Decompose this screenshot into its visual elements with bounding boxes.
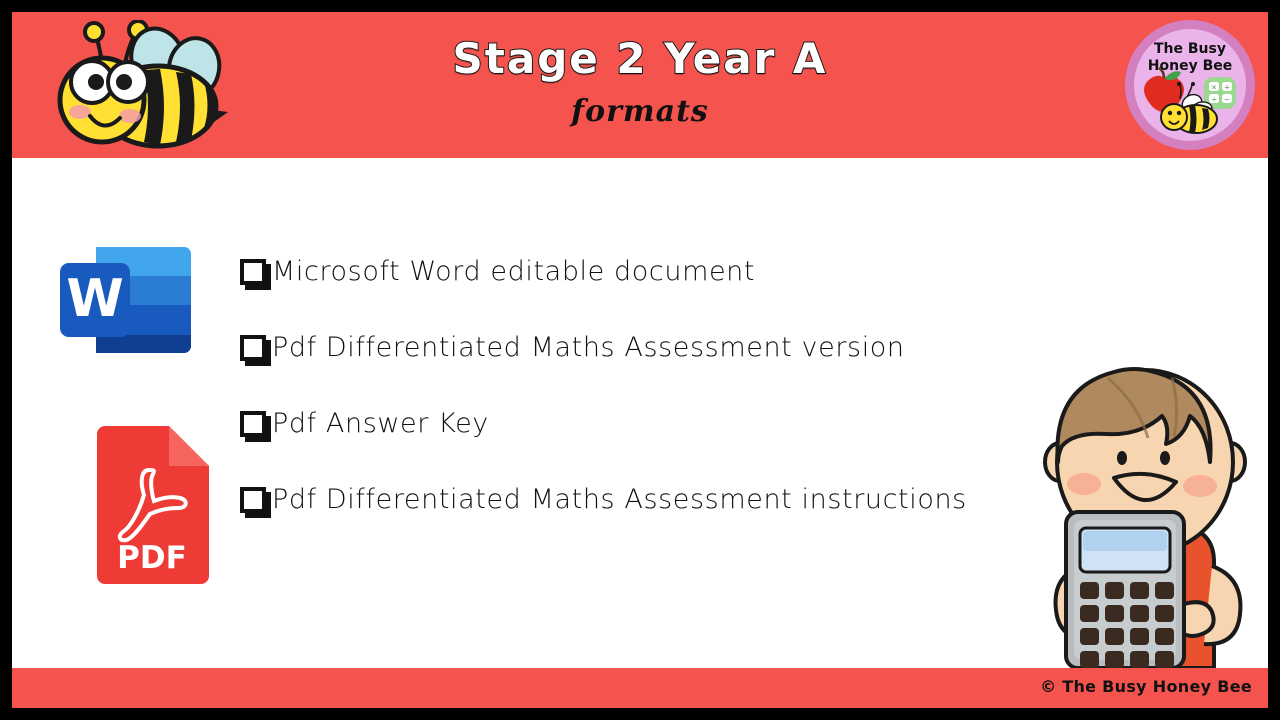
list-item-label: Microsoft Word editable document xyxy=(272,253,755,291)
footer-bar: © The Busy Honey Bee xyxy=(12,668,1268,708)
brand-logo-inner: The Busy Honey Bee xyxy=(1134,29,1246,141)
slide-page: Stage 2 Year A formats The Busy Honey Be… xyxy=(12,12,1268,708)
copyright-text: © The Busy Honey Bee xyxy=(1040,677,1252,696)
list-item-label: Pdf Differentiated Maths Assessment inst… xyxy=(272,481,967,519)
svg-text:−: − xyxy=(1224,96,1230,104)
svg-text:×: × xyxy=(1211,84,1217,92)
brand-logo-art: × + ÷ − xyxy=(1134,29,1246,141)
list-item[interactable]: Pdf Answer Key xyxy=(240,405,1060,481)
header-bar: Stage 2 Year A formats The Busy Honey Be… xyxy=(12,12,1268,158)
page-title: Stage 2 Year A xyxy=(12,34,1268,83)
checkbox-icon[interactable] xyxy=(240,335,266,361)
page-subtitle: formats xyxy=(12,94,1268,129)
word-letter: W xyxy=(66,269,123,329)
pdf-file-icon: PDF xyxy=(87,426,217,584)
list-item-label: Pdf Differentiated Maths Assessment vers… xyxy=(272,329,905,367)
checkbox-icon[interactable] xyxy=(240,259,266,285)
formats-checklist: Microsoft Word editable document Pdf Dif… xyxy=(240,253,1060,557)
list-item[interactable]: Microsoft Word editable document xyxy=(240,253,1060,329)
boy-with-calculator-illustration xyxy=(1022,366,1268,668)
content-area: W PDF Microsoft Word editable document P… xyxy=(12,158,1268,668)
checkbox-icon[interactable] xyxy=(240,411,266,437)
list-item[interactable]: Pdf Differentiated Maths Assessment vers… xyxy=(240,329,1060,405)
brand-logo[interactable]: The Busy Honey Bee xyxy=(1125,20,1255,150)
microsoft-word-icon: W xyxy=(58,241,193,359)
list-item[interactable]: Pdf Differentiated Maths Assessment inst… xyxy=(240,481,1060,557)
slide-root: Stage 2 Year A formats The Busy Honey Be… xyxy=(0,0,1280,720)
checkbox-icon[interactable] xyxy=(240,487,266,513)
svg-text:÷: ÷ xyxy=(1211,96,1217,104)
pdf-label: PDF xyxy=(117,540,187,576)
list-item-label: Pdf Answer Key xyxy=(272,405,489,443)
svg-text:+: + xyxy=(1224,84,1230,92)
